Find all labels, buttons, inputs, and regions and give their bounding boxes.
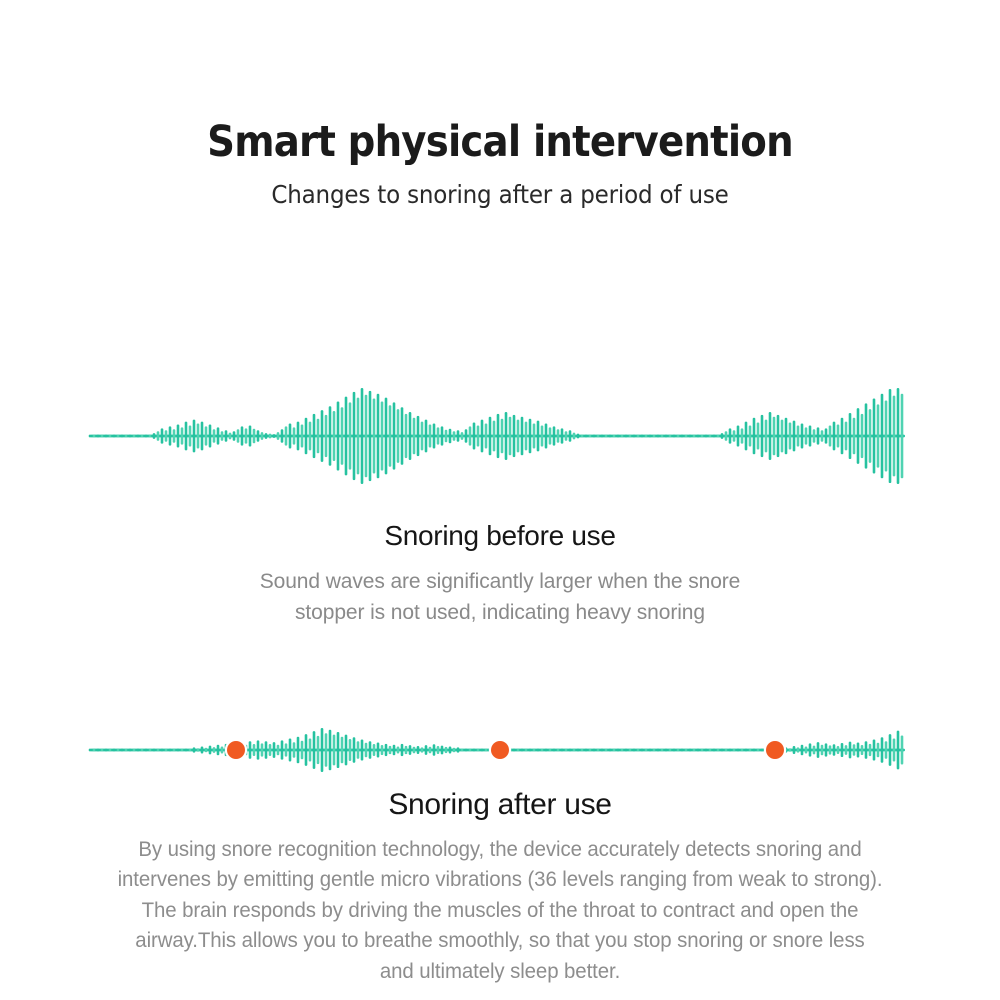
waveform-bar <box>741 749 744 752</box>
waveform-bar <box>589 435 592 438</box>
waveform-bar <box>661 435 664 438</box>
section-after-use: Snoring after use By using snore recogni… <box>0 786 1000 986</box>
waveform-bar <box>481 749 484 752</box>
waveform-bar <box>237 429 240 442</box>
waveform-bar <box>557 429 560 442</box>
waveform-bar <box>809 425 812 446</box>
waveform-bar <box>569 430 572 442</box>
waveform-bar <box>365 395 368 478</box>
waveform-bar <box>817 427 820 444</box>
waveform-bar <box>137 749 140 752</box>
waveform-bar <box>297 422 300 451</box>
waveform-bar <box>153 749 156 752</box>
waveform-bar <box>529 419 532 454</box>
waveform-bar <box>621 435 624 438</box>
waveform-bar <box>141 435 144 438</box>
waveform-bar <box>793 746 796 754</box>
waveform-bar <box>93 749 96 752</box>
waveform-bar <box>497 414 500 458</box>
waveform-bar <box>413 418 416 454</box>
waveform-bar <box>641 435 644 438</box>
waveform-bar <box>385 398 388 475</box>
waveform-bar <box>833 422 836 451</box>
waveform-bar <box>389 746 392 754</box>
waveform-bar <box>609 435 612 438</box>
waveform-bar <box>521 749 524 752</box>
waveform-bar <box>257 740 260 759</box>
waveform-bar <box>361 388 364 484</box>
waveform-bar <box>277 745 280 756</box>
waveform-bar <box>761 749 764 752</box>
waveform-bar <box>485 424 488 449</box>
waveform-bar <box>701 435 704 438</box>
waveform-bar <box>761 415 764 457</box>
waveform-bar <box>385 744 388 756</box>
waveform-bar <box>145 435 148 438</box>
waveform-bar <box>317 736 320 764</box>
waveform-bar <box>429 424 432 447</box>
waveform-bar <box>749 425 752 446</box>
waveform-bar <box>537 421 540 452</box>
waveform-bar <box>549 749 552 752</box>
waveform-bar <box>893 396 896 477</box>
waveform-bar <box>669 749 672 752</box>
waveform-bar <box>345 735 348 766</box>
waveform-bar <box>577 434 580 439</box>
waveform-bar <box>465 429 468 442</box>
waveform-bar <box>837 424 840 447</box>
waveform-bar <box>381 745 384 755</box>
waveform-bar <box>745 422 748 451</box>
waveform-bar <box>285 743 288 756</box>
waveform-bar <box>249 425 252 446</box>
waveform-bar <box>369 391 372 481</box>
waveform-bar <box>181 427 184 444</box>
waveform-bar <box>841 743 844 757</box>
waveform-bar <box>117 749 120 752</box>
waveform-bar <box>477 749 480 752</box>
waveform-bar <box>773 417 776 455</box>
waveform-bar <box>705 749 708 752</box>
section-heading-after: Snoring after use <box>0 786 1000 824</box>
waveform-bar <box>121 435 124 438</box>
waveform-bar <box>437 427 440 444</box>
detection-marker-dot <box>491 741 509 759</box>
waveform-bar <box>525 749 528 752</box>
waveform-bar <box>569 749 572 752</box>
waveform-bar <box>869 744 872 756</box>
waveform-bar <box>253 429 256 443</box>
waveform-bar <box>305 734 308 766</box>
waveform-bar <box>881 737 884 763</box>
waveform-bar <box>161 749 164 752</box>
waveform-bar <box>193 747 196 752</box>
waveform-bar <box>137 435 140 438</box>
waveform-bar <box>709 435 712 438</box>
waveform-bar <box>625 749 628 752</box>
waveform-bar <box>717 749 720 752</box>
waveform-bar <box>821 745 824 756</box>
waveform-bar <box>705 435 708 438</box>
waveform-bar <box>233 431 236 441</box>
waveform-bar <box>413 747 416 754</box>
waveform-bar <box>185 422 188 451</box>
waveform-bar <box>889 734 892 766</box>
waveform-bar <box>813 746 816 755</box>
waveform-bar <box>541 425 544 446</box>
waveform-bar <box>397 746 400 753</box>
waveform-bar <box>205 426 208 445</box>
waveform-bar <box>733 749 736 752</box>
waveform-bar <box>421 747 424 752</box>
waveform-bar <box>401 744 404 756</box>
waveform-bar <box>725 431 728 441</box>
waveform-bar <box>277 432 280 440</box>
waveform-bar <box>337 401 340 470</box>
waveform-bar <box>461 748 464 751</box>
waveform-bar <box>501 419 504 454</box>
waveform-bar <box>401 407 404 465</box>
waveform-bar <box>213 429 216 442</box>
waveform-bar <box>513 415 516 457</box>
waveform-bar <box>789 748 792 752</box>
waveform-bar <box>625 435 628 438</box>
waveform-bar <box>549 427 552 444</box>
waveform-bar <box>325 415 328 457</box>
waveform-bar <box>189 749 192 752</box>
waveform-bar <box>633 749 636 752</box>
waveform-bar <box>357 741 360 759</box>
waveform-bar <box>209 746 212 755</box>
waveform-bar <box>585 435 588 438</box>
waveform-bar <box>757 749 760 752</box>
waveform-bar <box>313 414 316 458</box>
waveform-bar <box>753 418 756 454</box>
waveform-bar <box>685 749 688 752</box>
waveform-bar <box>249 741 252 759</box>
waveform-bar <box>565 431 568 441</box>
waveform-bar <box>765 420 768 453</box>
waveform-bar <box>265 433 268 439</box>
page-title: Smart physical intervention <box>50 118 950 166</box>
waveform-bar <box>521 417 524 455</box>
waveform-bar <box>545 749 548 752</box>
waveform-bar <box>421 422 424 451</box>
waveform-bar <box>737 425 740 446</box>
waveform-bar <box>545 424 548 449</box>
waveform-bar <box>461 432 464 440</box>
waveform-bar <box>153 433 156 439</box>
waveform-bar <box>113 435 116 438</box>
waveform-bar <box>337 732 340 768</box>
waveform-bar <box>469 426 472 445</box>
waveform-bar <box>465 749 468 752</box>
waveform-bar <box>641 749 644 752</box>
waveform-bar <box>97 435 100 438</box>
waveform-bar <box>649 749 652 752</box>
waveform-bar <box>185 749 188 752</box>
waveform-bar <box>505 412 508 460</box>
waveform-bar <box>861 414 864 458</box>
waveform-bar <box>433 424 436 449</box>
waveform-bar <box>273 434 276 438</box>
waveform-bar <box>293 742 296 757</box>
waveform-bar <box>853 744 856 755</box>
waveform-bar <box>425 420 428 453</box>
waveform-bar <box>321 410 324 462</box>
waveform-bar <box>449 429 452 443</box>
waveform-bar <box>733 430 736 442</box>
waveform-bar <box>653 435 656 438</box>
waveform-bar <box>729 749 732 752</box>
header: Smart physical intervention Changes to s… <box>0 118 1000 209</box>
waveform-bar <box>165 749 168 752</box>
waveform-bar <box>645 435 648 438</box>
waveform-bar <box>333 735 336 766</box>
waveform-bar <box>489 417 492 455</box>
waveform-bar <box>281 740 284 759</box>
waveform-bar <box>889 389 892 483</box>
waveform-bar <box>721 749 724 752</box>
waveform-bar <box>701 749 704 752</box>
waveform-bar <box>177 424 180 447</box>
waveform-bar <box>593 749 596 752</box>
waveform-bar <box>113 749 116 752</box>
waveform-bar <box>169 426 172 445</box>
waveform-bar <box>173 749 176 752</box>
waveform-bar <box>273 742 276 758</box>
waveform-bar <box>293 427 296 444</box>
waveform-bar <box>897 731 900 770</box>
waveform-bar <box>877 404 880 467</box>
waveform-bar <box>533 749 536 752</box>
waveform-bar <box>665 749 668 752</box>
waveform-bar <box>901 394 904 478</box>
waveform-bar <box>605 749 608 752</box>
waveform-bar <box>597 435 600 438</box>
waveform-bar <box>245 428 248 443</box>
waveform-bar <box>389 405 392 466</box>
section-body-after: By using snore recognition technology, t… <box>54 834 947 987</box>
waveform-bar <box>581 435 584 438</box>
detection-marker-dot <box>766 741 784 759</box>
waveform-bar <box>453 748 456 752</box>
waveform-bar <box>801 745 804 756</box>
waveform-bar <box>877 743 880 758</box>
waveform-bar <box>281 429 284 442</box>
waveform-bar <box>725 749 728 752</box>
waveform-bar <box>157 431 160 441</box>
waveform-bar <box>209 424 212 447</box>
waveform-bar <box>373 399 376 474</box>
waveform-bar <box>201 746 204 753</box>
waveform-bar <box>553 749 556 752</box>
waveform-bar <box>593 435 596 438</box>
waveform-after-use-svg <box>0 700 1000 800</box>
waveform-bar <box>585 749 588 752</box>
waveform-bar <box>129 435 132 438</box>
waveform-bar <box>89 435 92 438</box>
section-body-before: Sound waves are significantly larger whe… <box>170 567 830 629</box>
waveform-bar <box>825 428 828 443</box>
waveform-bar <box>397 409 400 463</box>
waveform-bar <box>481 420 484 453</box>
waveform-bar <box>849 413 852 459</box>
waveform-bar <box>473 749 476 752</box>
waveform-bar <box>693 749 696 752</box>
waveform-bar <box>517 749 520 752</box>
waveform-bar <box>309 422 312 451</box>
waveform-bar <box>133 749 136 752</box>
waveform-bar <box>833 744 836 755</box>
waveform-bar <box>769 412 772 460</box>
waveform-bar <box>605 435 608 438</box>
waveform-bar <box>813 429 816 442</box>
waveform-bar <box>169 749 172 752</box>
waveform-bar <box>177 749 180 752</box>
waveform-bar <box>213 747 216 753</box>
waveform-bar <box>661 749 664 752</box>
waveform-bar <box>689 435 692 438</box>
waveform-bar <box>101 435 104 438</box>
waveform-bar <box>265 741 268 759</box>
waveform-bar <box>333 411 336 461</box>
waveform-bar <box>473 423 476 450</box>
waveform-bar <box>349 739 352 761</box>
waveform-bar <box>713 435 716 438</box>
detection-marker-dot <box>227 741 245 759</box>
waveform-bar <box>225 430 228 442</box>
waveform-bar <box>649 435 652 438</box>
waveform-bar <box>693 435 696 438</box>
waveform-bar <box>561 428 564 443</box>
waveform-bar <box>513 749 516 752</box>
waveform-bar <box>349 402 352 469</box>
waveform-bar <box>361 739 364 760</box>
section-before-use: Snoring before use Sound waves are signi… <box>0 518 1000 629</box>
waveform-bar <box>329 730 332 770</box>
waveform-bar <box>285 426 288 445</box>
waveform-bar <box>341 737 344 763</box>
waveform-bar <box>717 435 720 438</box>
waveform-bar <box>573 749 576 752</box>
page-subtitle: Changes to snoring after a period of use <box>40 180 960 209</box>
waveform-bar <box>617 749 620 752</box>
waveform-bar <box>629 749 632 752</box>
waveform-bar <box>821 430 824 442</box>
waveform-bar <box>637 435 640 438</box>
waveform-bar <box>573 433 576 440</box>
waveform-bar <box>797 425 800 446</box>
waveform-bar <box>109 749 112 752</box>
waveform-bar <box>441 426 444 445</box>
waveform-bar <box>589 749 592 752</box>
waveform-bar <box>805 746 808 753</box>
waveform-bar <box>681 435 684 438</box>
waveform-bar <box>677 435 680 438</box>
waveform-bar <box>677 749 680 752</box>
waveform-bar <box>841 418 844 454</box>
waveform-bar <box>853 418 856 454</box>
waveform-bar <box>453 431 456 441</box>
waveform-bar <box>901 735 904 764</box>
waveform-bar <box>789 423 792 450</box>
waveform-bar <box>145 749 148 752</box>
waveform-bar <box>269 744 272 756</box>
waveform-bar <box>165 430 168 442</box>
waveform-bar <box>417 416 420 456</box>
waveform-bar <box>669 435 672 438</box>
waveform-bar <box>777 415 780 457</box>
waveform-before-use <box>0 368 1000 504</box>
waveform-bar <box>373 744 376 756</box>
waveform-bar <box>597 749 600 752</box>
waveform-bar <box>865 403 868 468</box>
waveform-bar <box>353 392 356 480</box>
waveform-bar <box>197 424 200 449</box>
waveform-bar <box>893 739 896 762</box>
waveform-bar <box>445 747 448 753</box>
waveform-bar <box>653 749 656 752</box>
waveform-bar <box>229 433 232 440</box>
waveform-bar <box>149 749 152 752</box>
waveform-bar <box>289 739 292 762</box>
waveform-bar <box>845 422 848 451</box>
waveform-bar <box>645 749 648 752</box>
waveform-bar <box>133 435 136 438</box>
waveform-bar <box>105 435 108 438</box>
waveform-bar <box>329 406 332 466</box>
waveform-bar <box>509 417 512 455</box>
waveform-bar <box>125 435 128 438</box>
waveform-bar <box>149 435 152 438</box>
waveform-bar <box>317 419 320 454</box>
waveform-bar <box>437 746 440 754</box>
waveform-bar <box>369 741 372 759</box>
waveform-bar <box>201 422 204 451</box>
waveform-bar <box>105 749 108 752</box>
waveform-bar <box>189 425 192 446</box>
waveform-bar <box>393 745 396 756</box>
waveform-bar <box>269 434 272 439</box>
waveform-bar <box>321 728 324 772</box>
waveform-bar <box>109 435 112 438</box>
waveform-bar <box>309 739 312 762</box>
waveform-bar <box>157 749 160 752</box>
waveform-bar <box>657 435 660 438</box>
waveform-bar <box>721 433 724 439</box>
waveform-bar <box>221 431 224 441</box>
waveform-bar <box>121 749 124 752</box>
waveform-bar <box>697 749 700 752</box>
waveform-bar <box>393 402 396 469</box>
waveform-bar <box>445 430 448 442</box>
waveform-bar <box>785 418 788 454</box>
waveform-bar <box>217 745 220 756</box>
waveform-bar <box>757 423 760 450</box>
waveform-bar <box>125 749 128 752</box>
waveform-bar <box>737 749 740 752</box>
waveform-bar <box>101 749 104 752</box>
waveform-bar <box>485 749 488 752</box>
waveform-bar <box>325 733 328 766</box>
section-heading-before: Snoring before use <box>0 518 1000 553</box>
waveform-bar <box>429 747 432 754</box>
waveform-bar <box>681 749 684 752</box>
waveform-bar <box>541 749 544 752</box>
waveform-bar <box>749 749 752 752</box>
waveform-bar <box>377 394 380 478</box>
